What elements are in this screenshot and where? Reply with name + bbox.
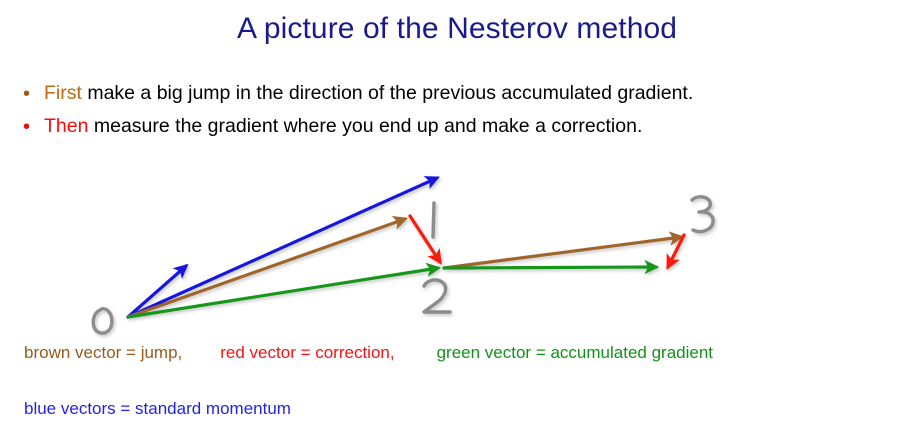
vector-brown-jump-1 xyxy=(128,219,405,317)
legend-vectors-line: brown vector = jump,red vector = correct… xyxy=(24,343,914,363)
point-label-1-icon xyxy=(433,203,434,237)
legend-blue-label: blue vectors = standard momentum xyxy=(24,399,291,418)
bullet-item-then: • Then measure the gradient where you en… xyxy=(18,117,898,138)
bullet-list: • First make a big jump in the direction… xyxy=(18,84,898,150)
bullet-keyword-then: Then xyxy=(44,115,88,137)
bullet-keyword-first: First xyxy=(44,82,82,104)
diagram-canvas xyxy=(0,155,914,340)
vector-green-accumulated-2 xyxy=(444,267,656,268)
legend-momentum-line: blue vectors = standard momentum xyxy=(24,399,291,419)
vector-group xyxy=(128,178,684,317)
point-label-0-icon xyxy=(93,309,112,333)
legend-red-label: red vector = correction, xyxy=(220,343,394,362)
vector-blue-momentum-upper xyxy=(128,178,437,317)
bullet-body-then: measure the gradient where you end up an… xyxy=(88,115,642,137)
vector-brown-jump-2 xyxy=(444,237,681,268)
legend-brown-label: brown vector = jump, xyxy=(24,343,182,362)
legend-green-label: green vector = accumulated gradient xyxy=(437,343,713,362)
bullet-text-then: Then measure the gradient where you end … xyxy=(44,117,642,137)
point-label-3-icon xyxy=(692,197,713,232)
bullet-marker-icon: • xyxy=(18,117,44,138)
nesterov-vector-diagram xyxy=(0,155,914,340)
bullet-text-first: First make a big jump in the direction o… xyxy=(44,84,693,104)
page-title: A picture of the Nesterov method xyxy=(0,12,914,46)
point-label-2-icon xyxy=(424,280,450,312)
bullet-item-first: • First make a big jump in the direction… xyxy=(18,84,898,105)
bullet-marker-icon: • xyxy=(18,84,44,105)
vector-red-correction-1 xyxy=(410,216,440,262)
bullet-body-first: make a big jump in the direction of the … xyxy=(82,82,693,104)
